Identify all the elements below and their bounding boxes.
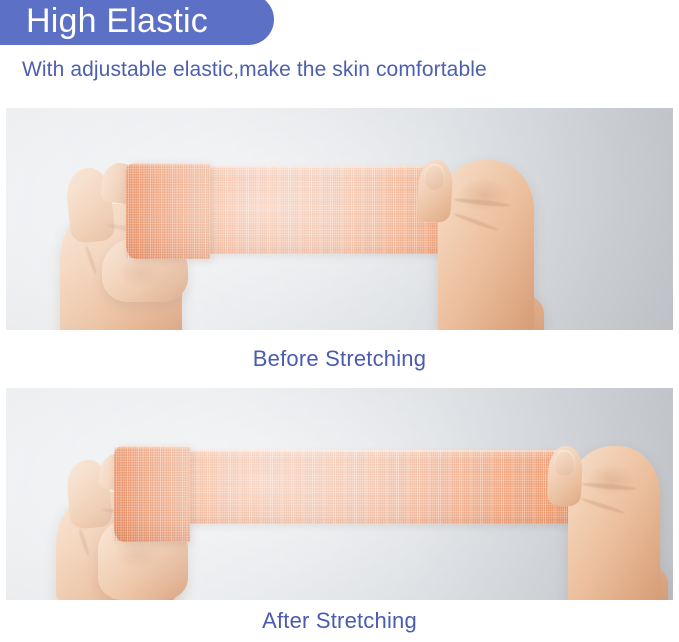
right-knuckle-shadow — [586, 464, 636, 496]
right-thumbnail — [424, 164, 445, 190]
bandage-roll-weave-texture — [114, 446, 190, 542]
caption-before-label: Before Stretching — [253, 346, 426, 372]
left-knuckle-shadow — [118, 258, 164, 288]
bandage-top-highlight — [184, 450, 570, 453]
right-thumbnail — [554, 450, 575, 476]
bandage-strip-after — [184, 450, 570, 524]
photo-before-stretching — [6, 108, 673, 330]
caption-after-label: After Stretching — [262, 608, 417, 634]
bandage-strip-before — [202, 166, 442, 254]
left-knuckle-shadow — [114, 540, 162, 570]
bandage-roll-highlight — [126, 163, 210, 166]
bandage-weave-texture — [184, 450, 570, 524]
header: High Elastic With adjustable elastic,mak… — [0, 0, 679, 108]
bandage-top-highlight — [202, 166, 442, 169]
caption-before-stretching: Before Stretching — [0, 330, 679, 388]
bandage-roll-after — [114, 446, 190, 542]
title-badge-label: High Elastic — [26, 1, 208, 41]
bandage-roll-weave-texture — [126, 163, 210, 259]
bandage-roll-before — [126, 163, 210, 259]
caption-after-stretching: After Stretching — [0, 600, 679, 642]
photo-after-stretching — [6, 388, 673, 600]
title-badge: High Elastic — [0, 0, 274, 45]
right-knuckle-shadow — [458, 178, 510, 212]
bandage-weave-texture — [202, 166, 442, 254]
subtitle-text: With adjustable elastic,make the skin co… — [22, 56, 487, 84]
bandage-roll-highlight — [114, 446, 190, 449]
